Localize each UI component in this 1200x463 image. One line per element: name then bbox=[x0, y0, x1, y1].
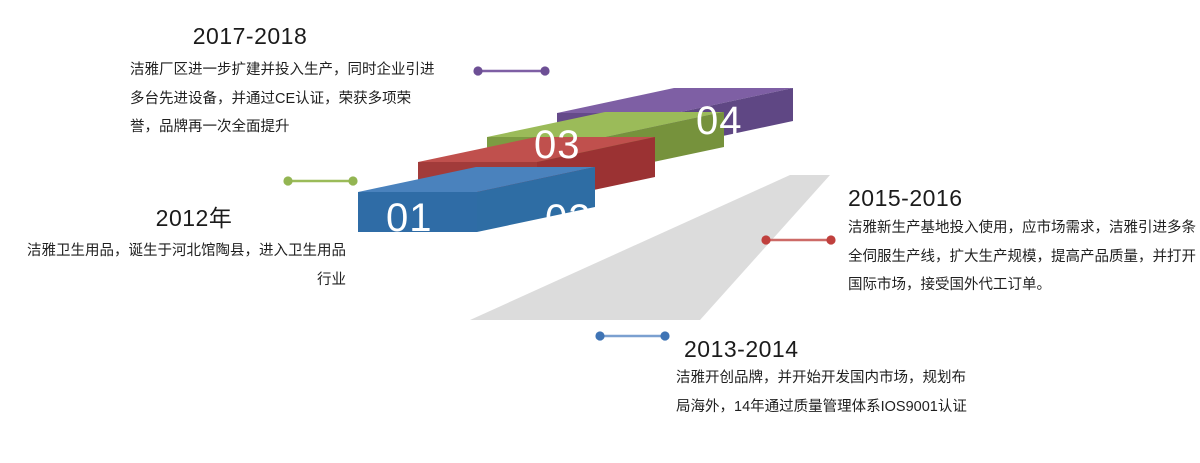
callout-2012: 2012年 洁雅卫生用品，诞生于河北馆陶县，进入卫生用品行业 bbox=[0, 206, 352, 294]
connector-purple bbox=[473, 66, 549, 75]
step-number-01: 01 bbox=[386, 198, 433, 238]
callout-2013-title: 2013-2014 bbox=[676, 337, 976, 362]
step-number-03: 03 bbox=[534, 125, 581, 165]
step-number-02: 02 bbox=[545, 199, 592, 239]
callout-2017-2018: 2017-2018 洁雅厂区进一步扩建并投入生产，同时企业引进多台先进设备，并通… bbox=[0, 24, 440, 141]
callout-2012-title: 2012年 bbox=[0, 206, 352, 231]
infographic-canvas: 01 02 03 04 2017-2018 洁雅厂区进一步扩建并投入生产，同时企… bbox=[0, 0, 1200, 463]
callout-2015-title: 2015-2016 bbox=[848, 186, 1196, 211]
callout-2012-body: 洁雅卫生用品，诞生于河北馆陶县，进入卫生用品行业 bbox=[0, 237, 352, 294]
callout-2013-body: 洁雅开创品牌，并开始开发国内市场，规划布局海外，14年通过质量管理体系IOS90… bbox=[676, 364, 976, 421]
callout-2017-body: 洁雅厂区进一步扩建并投入生产，同时企业引进多台先进设备，并通过CE认证，荣获多项… bbox=[0, 56, 440, 141]
callout-2013-2014: 2013-2014 洁雅开创品牌，并开始开发国内市场，规划布局海外，14年通过质… bbox=[676, 337, 976, 421]
connector-green bbox=[283, 176, 357, 185]
callout-2015-2016: 2015-2016 洁雅新生产基地投入使用，应市场需求，洁雅引进多条全伺服生产线… bbox=[848, 186, 1196, 299]
callout-2017-title: 2017-2018 bbox=[0, 24, 440, 49]
step-number-04: 04 bbox=[696, 101, 743, 141]
callout-2015-body: 洁雅新生产基地投入使用，应市场需求，洁雅引进多条全伺服生产线，扩大生产规模，提高… bbox=[848, 214, 1196, 299]
connector-blue bbox=[595, 331, 669, 340]
